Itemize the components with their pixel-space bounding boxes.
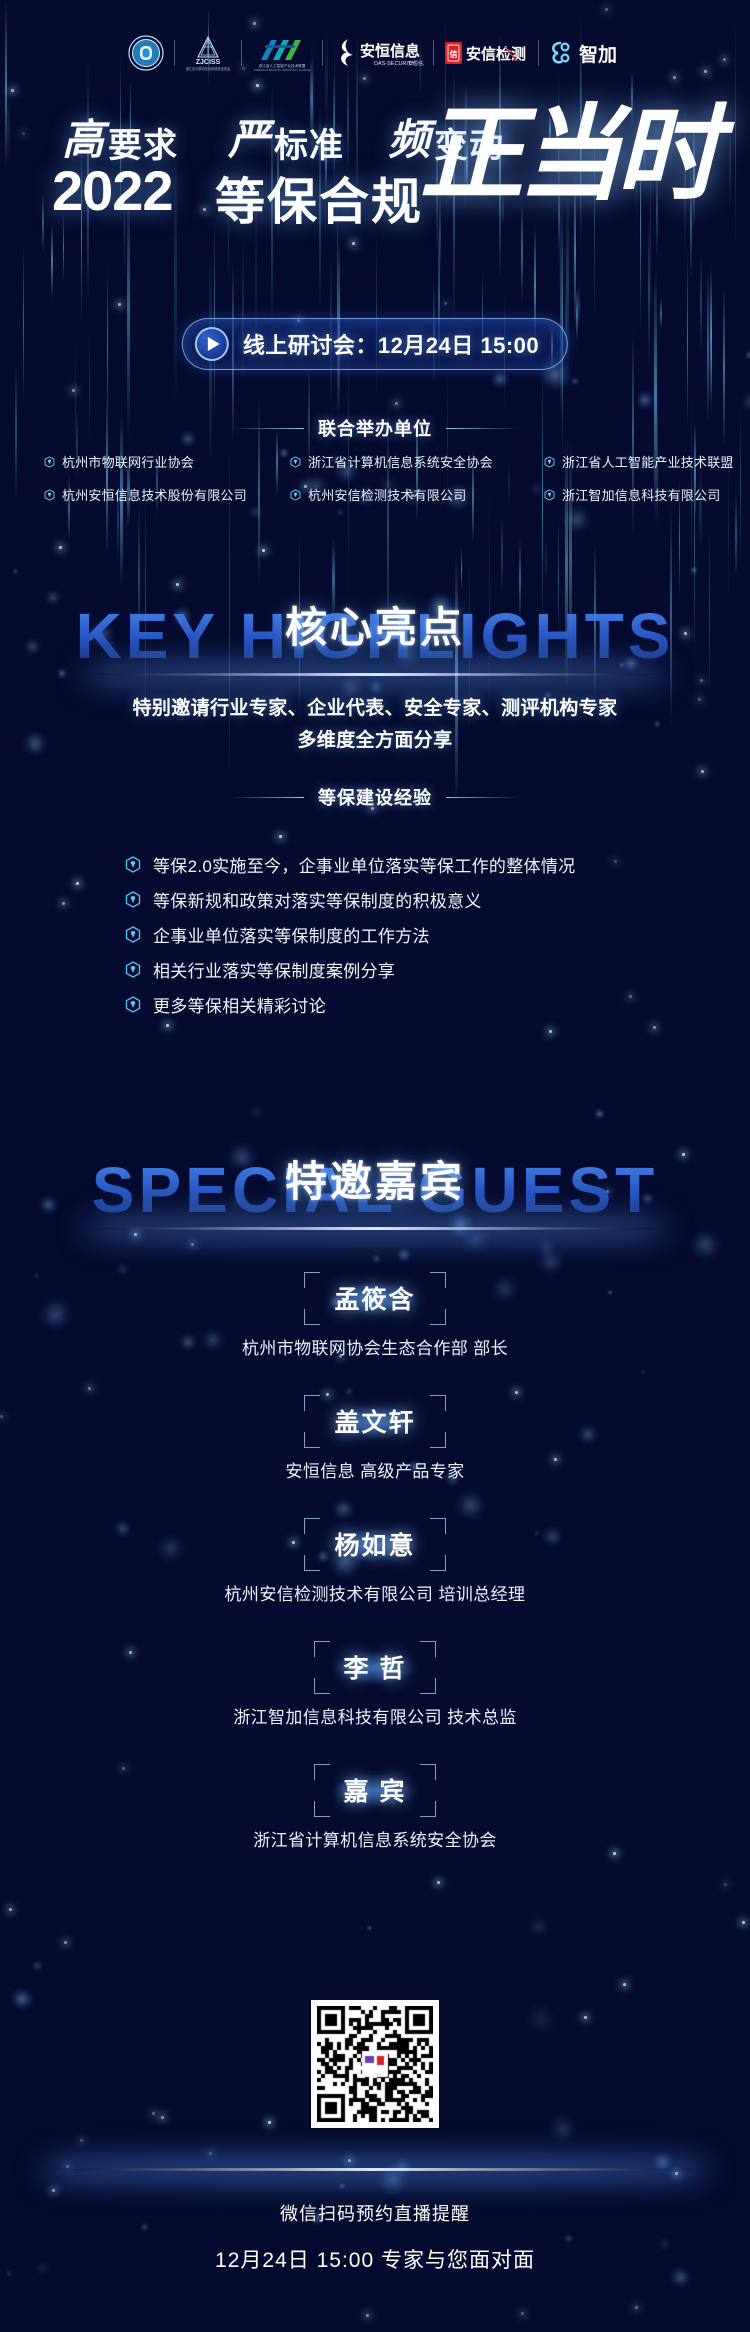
organizer-label: 杭州市物联网行业协会	[62, 452, 194, 471]
guest-name-frame: 嘉 宾	[314, 1764, 437, 1817]
organizer-label: 杭州安恒信息技术股份有限公司	[62, 485, 247, 504]
highlights-lede-line1: 特别邀请行业专家、企业代表、安全专家、测评机构专家	[0, 694, 750, 725]
hexagon-icon	[125, 961, 141, 978]
organizer-label: 浙江省计算机信息系统安全协会	[308, 452, 493, 471]
guest-item: 李 哲浙江智加信息科技有限公司 技术总监	[233, 1641, 517, 1728]
organizer-item: 杭州安信检测技术有限公司	[290, 485, 544, 504]
hexagon-icon	[125, 996, 141, 1013]
hexagon-icon	[125, 856, 141, 873]
bullet-label: 相关行业落实等保制度案例分享	[153, 957, 395, 982]
svg-text:信: 信	[449, 49, 457, 59]
organizer-list: 杭州市物联网行业协会浙江省计算机信息系统安全协会浙江省人工智能产业技术联盟杭州安…	[0, 452, 750, 504]
organizer-label: 浙江智加信息科技有限公司	[562, 485, 720, 504]
rule-left	[230, 428, 304, 429]
highlight-bullet: 企事业单位落实等保制度的工作方法	[125, 922, 575, 947]
svg-text:ZHEJIANG AI INDUSTRY TECHNOLOG: ZHEJIANG AI INDUSTRY TECHNOLOGY ALLIANCE	[253, 69, 310, 72]
footer-glow-line	[55, 2168, 695, 2171]
guest-item: 盖文轩安恒信息 高级产品专家	[285, 1395, 464, 1482]
footer-line-1: 微信扫码预约直播提醒	[0, 2200, 750, 2226]
guest-item: 孟筱含杭州市物联网协会生态合作部 部长	[242, 1272, 508, 1359]
zhijia-logo: 智加	[539, 33, 633, 73]
hexagon-icon	[544, 456, 555, 468]
hero-year: 2022	[52, 158, 173, 223]
highlight-bullet: 更多等保相关精彩讨论	[125, 992, 575, 1017]
hexagon-icon	[125, 891, 141, 908]
zjciss-logo: ZJCISS 浙江省计算机信息系统安全协会	[175, 33, 241, 73]
dbappsecurity-logo: 安恒信息 DAS-SECURITY 安恒信息	[323, 33, 433, 73]
experience-subheading-label: 等保建设经验	[318, 784, 432, 810]
bullet-label: 更多等保相关精彩讨论	[153, 992, 326, 1017]
organizer-item: 浙江智加信息科技有限公司	[544, 485, 750, 504]
hexagon-icon	[544, 489, 555, 501]
bullet-label: 等保新规和政策对落实等保制度的积极意义	[153, 887, 482, 912]
guest-title: 杭州安信检测技术有限公司 培训总经理	[225, 1580, 526, 1605]
svg-text:浙江省计算机信息系统安全协会: 浙江省计算机信息系统安全协会	[185, 66, 230, 71]
organizers-heading-label: 联合举办单位	[318, 415, 432, 441]
play-icon	[195, 327, 229, 361]
qr-canvas	[317, 2006, 433, 2122]
svg-text:浙江省人工智能产业技术联盟: 浙江省人工智能产业技术联盟	[258, 63, 305, 68]
guest-name-frame: 孟筱含	[304, 1272, 445, 1325]
glow-floor-line	[95, 1227, 655, 1230]
guest-name: 嘉 宾	[344, 1778, 407, 1806]
hero-main-row: 2022 等保合规 正当时	[0, 160, 750, 232]
highlight-bullet: 等保2.0实施至今，企事业单位落实等保工作的整体情况	[125, 852, 575, 877]
key-highlights-title-block: KEY HIGHLIGHTS 核心亮点	[0, 570, 750, 690]
partner-logo-bar: ZJCISS 浙江省计算机信息系统安全协会 浙江省人工智能产业技术联盟 ZHEJ…	[0, 30, 750, 76]
organizer-item: 浙江省人工智能产业技术联盟	[544, 452, 750, 471]
hexagon-icon	[125, 926, 141, 943]
guest-title: 浙江省计算机信息系统安全协会	[253, 1826, 497, 1851]
guest-title: 安恒信息 高级产品专家	[285, 1457, 464, 1482]
organizer-item: 杭州市物联网行业协会	[44, 452, 290, 471]
highlight-bullet: 等保新规和政策对落实等保制度的积极意义	[125, 887, 575, 912]
organizer-item: 浙江省计算机信息系统安全协会	[290, 452, 544, 471]
guest-title: 杭州市物联网协会生态合作部 部长	[242, 1334, 508, 1359]
guest-name: 盖文轩	[334, 1409, 415, 1437]
hero-main-text: 等保合规	[215, 162, 423, 234]
hexagon-icon	[290, 489, 301, 501]
organizer-label: 杭州安信检测技术有限公司	[308, 485, 466, 504]
guest-name: 李 哲	[344, 1655, 407, 1683]
hexagon-icon	[44, 489, 55, 501]
anxin-testing-logo: 信 安信检测	[434, 33, 538, 73]
highlights-lede-line2: 多维度全方面分享	[0, 726, 750, 757]
wechat-qr-code[interactable]	[311, 2000, 439, 2128]
guest-item: 嘉 宾浙江省计算机信息系统安全协会	[253, 1764, 497, 1851]
webinar-date-badge[interactable]: 线上研讨会：12月24日 15:00	[182, 318, 568, 370]
guest-title: 浙江智加信息科技有限公司 技术总监	[233, 1703, 517, 1728]
hexagon-icon	[290, 456, 301, 468]
hero-brush-text: 正当时	[420, 102, 714, 206]
special-guest-title: 特邀嘉宾	[0, 1148, 750, 1209]
bullet-label: 企事业单位落实等保制度的工作方法	[153, 922, 430, 947]
special-guest-title-block: SPECIAL GUEST 特邀嘉宾	[0, 1124, 750, 1244]
zhejiang-ai-alliance-logo: 浙江省人工智能产业技术联盟 ZHEJIANG AI INDUSTRY TECHN…	[242, 33, 322, 73]
svg-text:智加: 智加	[578, 43, 616, 66]
tagline-cal-2: 严	[228, 106, 270, 167]
svg-text:安恒信息: 安恒信息	[359, 42, 419, 60]
highlight-bullet-list: 等保2.0实施至今，企事业单位落实等保工作的整体情况等保新规和政策对落实等保制度…	[125, 852, 575, 1017]
zjciss-seal-logo	[118, 33, 174, 73]
svg-text:安恒信息: 安恒信息	[408, 60, 424, 67]
bullet-label: 等保2.0实施至今，企事业单位落实等保工作的整体情况	[153, 852, 575, 877]
guest-name-frame: 杨如意	[304, 1518, 445, 1571]
guest-name-frame: 李 哲	[314, 1641, 437, 1694]
svg-text:ZJCISS: ZJCISS	[195, 59, 220, 66]
organizer-item: 杭州安恒信息技术股份有限公司	[44, 485, 290, 504]
guest-list: 孟筱含杭州市物联网协会生态合作部 部长盖文轩安恒信息 高级产品专家杨如意杭州安信…	[0, 1272, 750, 1851]
rule-right	[446, 797, 520, 798]
hero-title-block: 高 要求 严 标准 频 变动 2022 等保合规 正当时	[0, 98, 750, 232]
guest-item: 杨如意杭州安信检测技术有限公司 培训总经理	[225, 1518, 526, 1605]
organizers-heading: 联合举办单位	[0, 415, 750, 441]
guest-name: 杨如意	[334, 1532, 415, 1560]
footer-line-2: 12月24日 15:00 专家与您面对面	[0, 2244, 750, 2274]
guest-name-frame: 盖文轩	[304, 1395, 445, 1448]
organizer-label: 浙江省人工智能产业技术联盟	[562, 452, 734, 471]
experience-subheading: 等保建设经验	[0, 784, 750, 810]
guest-name: 孟筱含	[334, 1286, 415, 1314]
rule-right	[446, 428, 520, 429]
webinar-date-label: 线上研讨会：12月24日 15:00	[243, 328, 539, 360]
hexagon-icon	[44, 456, 55, 468]
glow-floor-line	[95, 673, 655, 676]
key-highlights-title: 核心亮点	[0, 594, 750, 655]
highlight-bullet: 相关行业落实等保制度案例分享	[125, 957, 575, 982]
tagline-group-2: 严 标准	[228, 106, 344, 167]
rule-left	[230, 797, 304, 798]
